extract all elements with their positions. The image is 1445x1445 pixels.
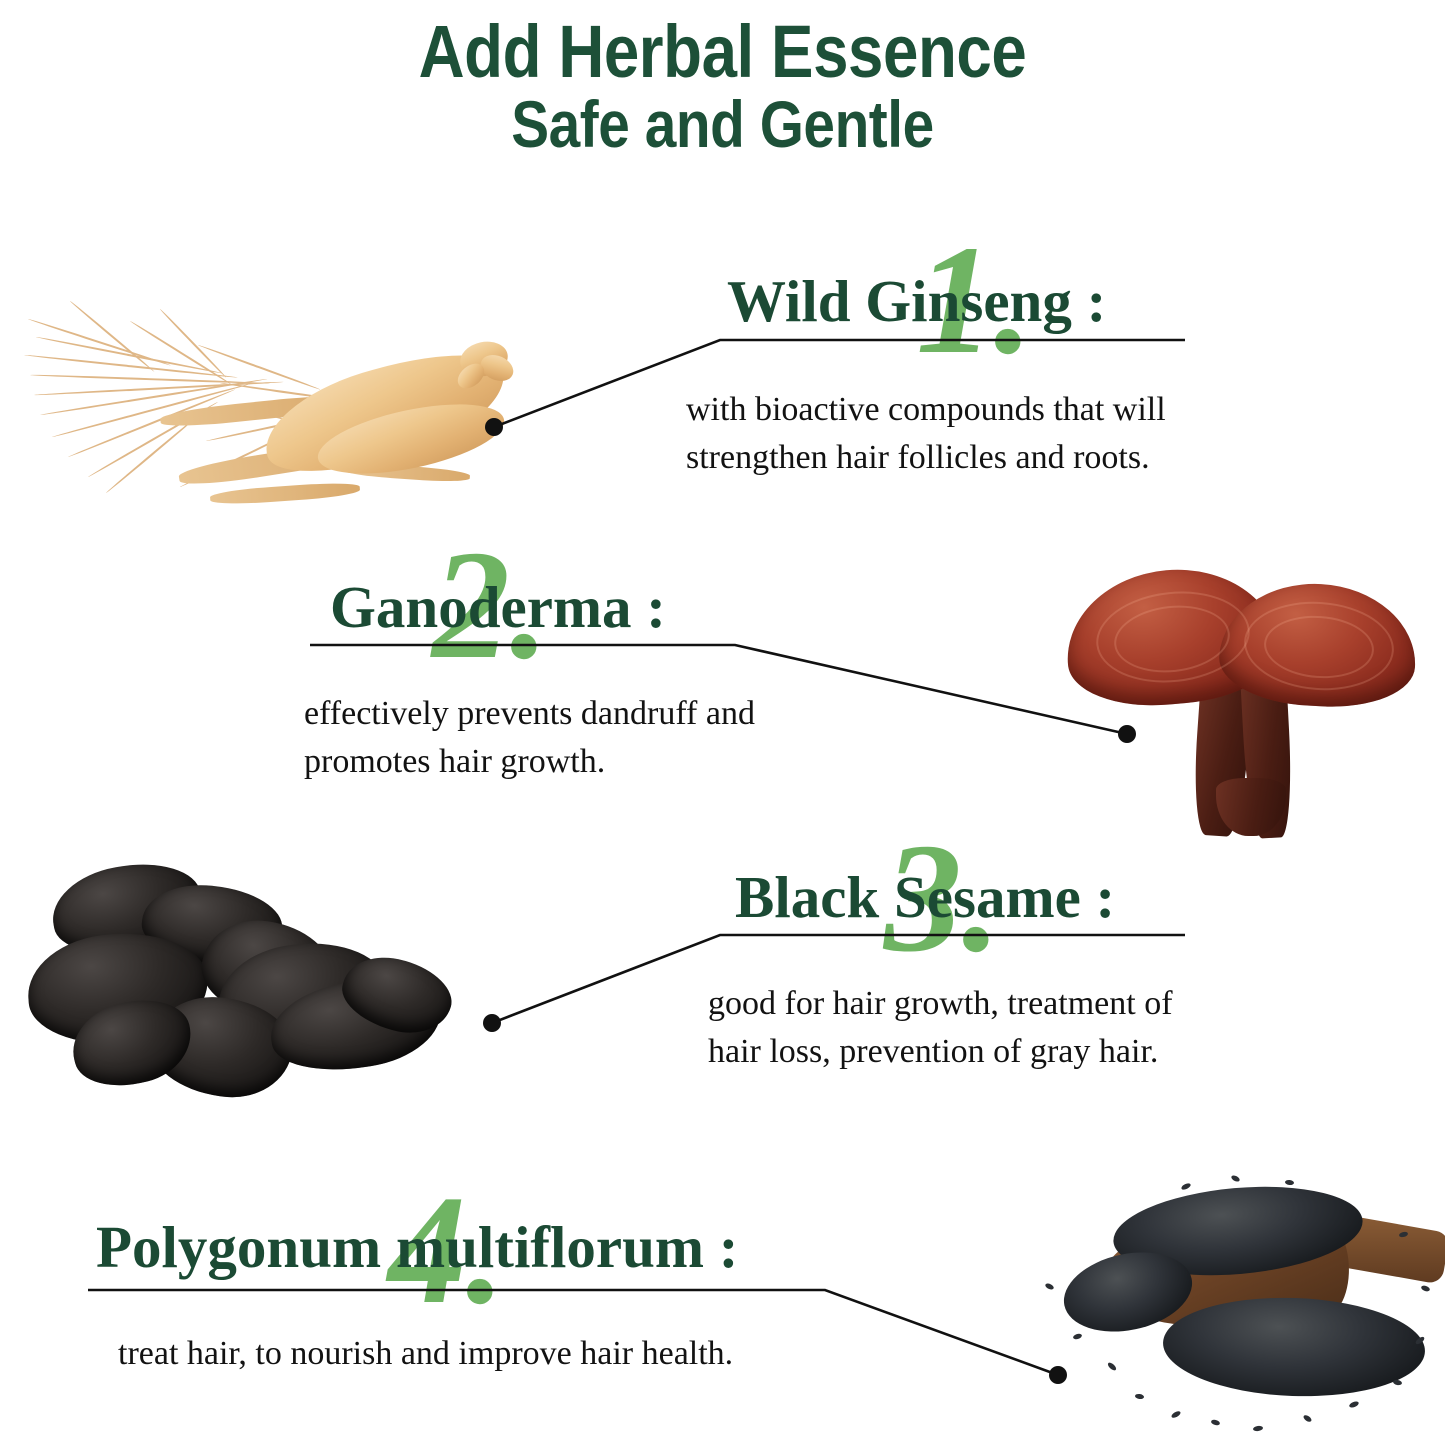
section-3-body: good for hair growth, treatment of hair …	[708, 980, 1173, 1077]
section-4-body-line-1: treat hair, to nourish and improve hair …	[118, 1330, 733, 1378]
page-title: Add Herbal Essence Safe and Gentle	[0, 14, 1445, 159]
section-4-heading: Polygonum multiflorum :	[96, 1218, 738, 1277]
black-sesame-image	[985, 1158, 1445, 1445]
section-2-body: effectively prevents dandruff and promot…	[304, 690, 755, 787]
page-title-line-1: Add Herbal Essence	[101, 14, 1344, 89]
section-4-body: treat hair, to nourish and improve hair …	[118, 1330, 733, 1378]
ganoderma-image	[1048, 548, 1418, 828]
leader-dot-3	[483, 1014, 501, 1032]
section-1-body: with bioactive compounds that will stren…	[686, 386, 1166, 483]
section-3-heading: Black Sesame :	[735, 868, 1115, 927]
section-1-body-line-1: with bioactive compounds that will	[686, 386, 1166, 434]
section-2-heading: Ganoderma :	[330, 578, 666, 637]
section-3-body-line-2: hair loss, prevention of gray hair.	[708, 1028, 1173, 1076]
section-1-heading: Wild Ginseng :	[727, 272, 1106, 331]
ginseng-image	[10, 290, 510, 530]
dried-root-slices-image	[12, 852, 472, 1102]
infographic-page: Add Herbal Essence Safe and Gentle	[0, 0, 1445, 1445]
section-3-body-line-1: good for hair growth, treatment of	[708, 980, 1173, 1028]
section-2-body-line-2: promotes hair growth.	[304, 738, 755, 786]
section-1-body-line-2: strengthen hair follicles and roots.	[686, 434, 1166, 482]
section-2-body-line-1: effectively prevents dandruff and	[304, 690, 755, 738]
page-title-line-2: Safe and Gentle	[101, 91, 1344, 158]
